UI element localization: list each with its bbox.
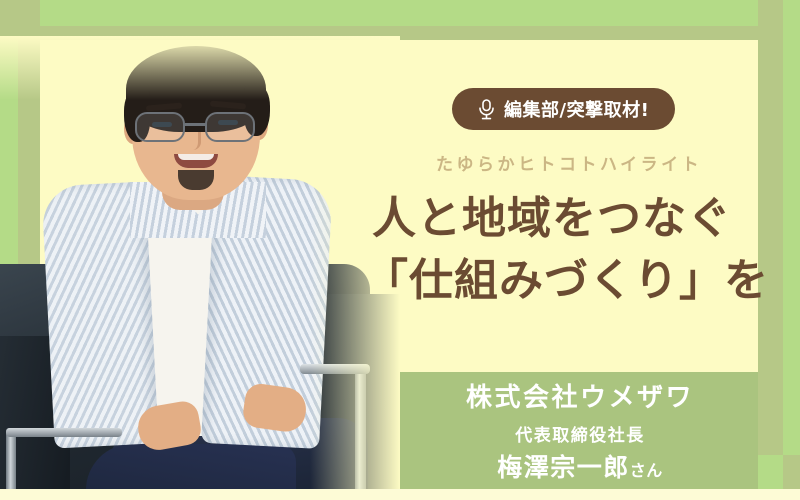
job-title: 代表取締役社長: [415, 421, 745, 446]
subject-photo: [0, 36, 400, 500]
eyeglasses-bridge: [185, 123, 207, 126]
interviewee-credit: 株式会社ウメザワ 代表取締役社長 梅澤宗一郎さん: [415, 382, 745, 484]
subject-beard: [178, 170, 214, 190]
decor-band-right: [783, 0, 800, 455]
banner-stage: 編集部/突撃取材! たゆらかヒトコトハイライト 人と地域をつなぐ 「仕組みづくり…: [0, 0, 800, 500]
category-badge[interactable]: 編集部/突撃取材!: [452, 88, 675, 130]
person-honorific: さん: [630, 461, 663, 480]
page-title-line1: 人と地域をつなぐ: [372, 188, 762, 250]
person-name-row: 梅澤宗一郎さん: [415, 448, 745, 484]
decor-band-top: [40, 0, 758, 26]
subject-teeth: [178, 154, 214, 160]
page-title-line2: 「仕組みづくり」を: [364, 250, 762, 312]
microphone-icon: [478, 99, 495, 120]
person-name: 梅澤宗一郎: [497, 453, 630, 482]
company-name: 株式会社ウメザワ: [415, 382, 745, 416]
series-kicker: たゆらかヒトコトハイライト: [436, 150, 702, 175]
eyeglasses-lens-left: [135, 112, 185, 142]
category-badge-label: 編集部/突撃取材!: [504, 96, 649, 122]
chair-frame-left-top: [6, 428, 122, 437]
eyeglasses-lens-right: [205, 112, 255, 142]
decor-strip-bottom: [0, 489, 800, 500]
page-title: 人と地域をつなぐ 「仕組みづくり」を: [372, 188, 762, 313]
